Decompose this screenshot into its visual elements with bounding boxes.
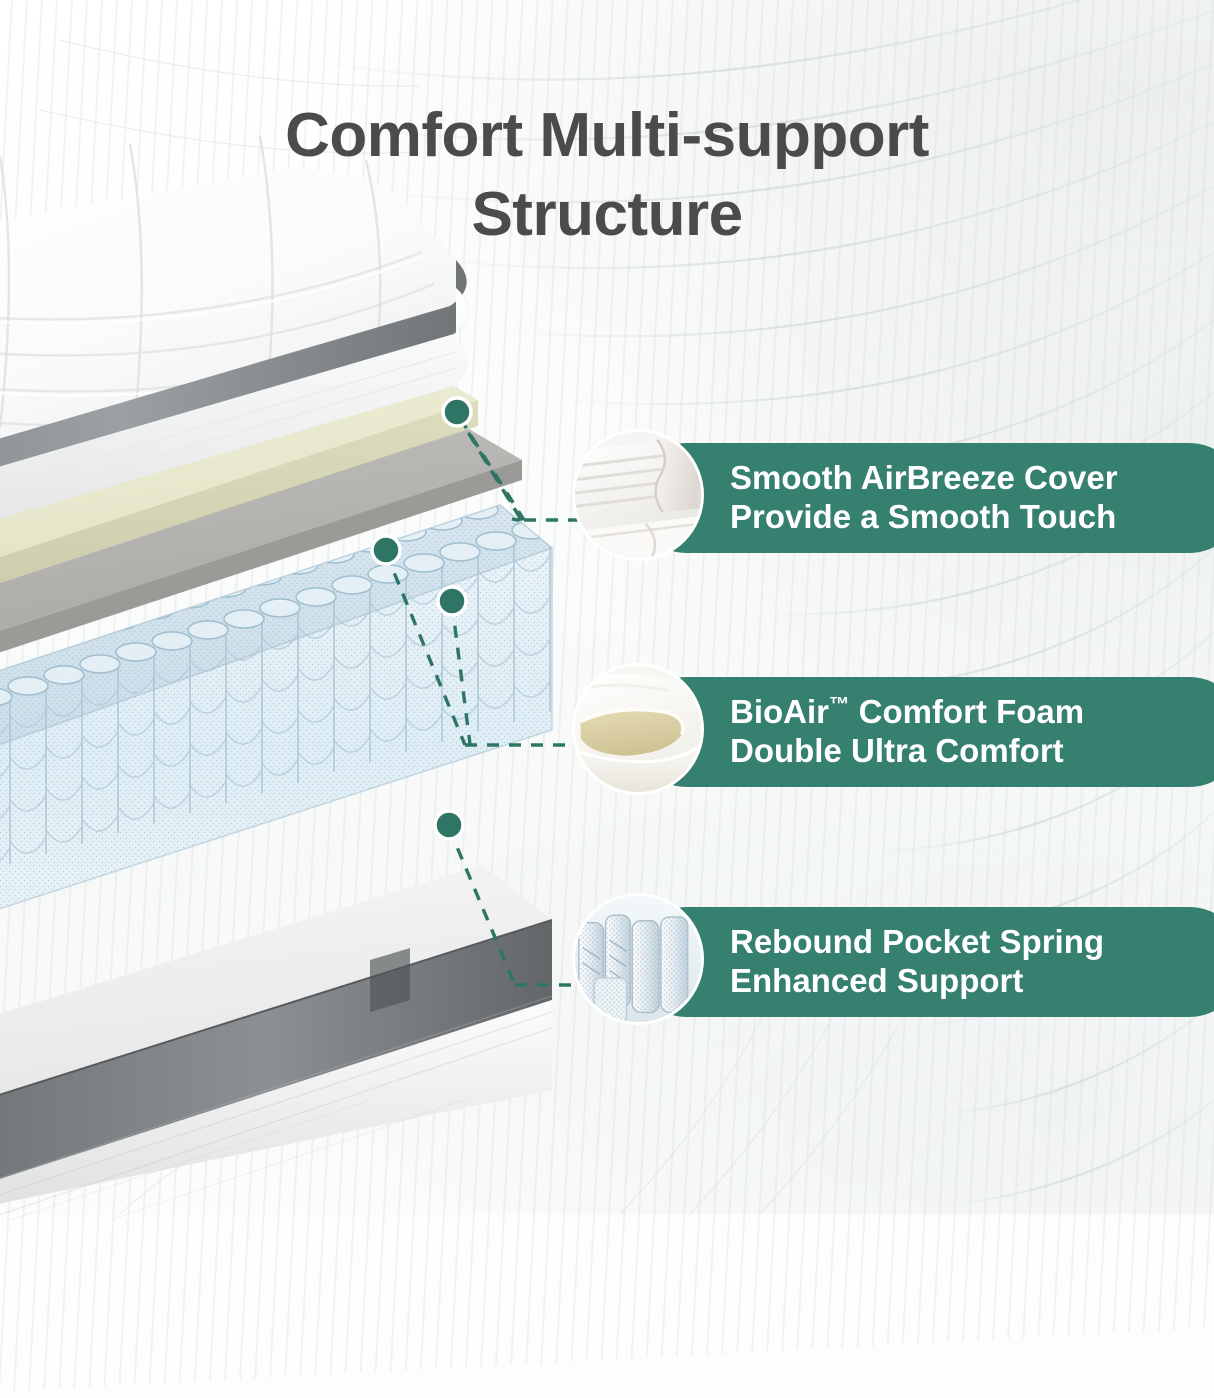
exploded-mattress-illustration [0,300,600,1220]
callout-2-line2: Double Ultra Comfort [730,732,1084,771]
callout-text-2: BioAir™ Comfort Foam Double Ultra Comfor… [730,693,1124,770]
callout-2-line1: BioAir™ Comfort Foam [730,693,1084,732]
page-title-line1: Comfort Multi-support [285,101,929,170]
callout-1-line2: Provide a Smooth Touch [730,498,1118,537]
trademark-icon: ™ [829,693,849,716]
page-title-line2: Structure [120,175,1094,254]
callout-text-1: Smooth AirBreeze Cover Provide a Smooth … [730,459,1158,536]
callout-1-line1: Smooth AirBreeze Cover [730,459,1118,498]
callout-bioair-comfort-foam[interactable]: BioAir™ Comfort Foam Double Ultra Comfor… [572,672,1124,792]
callout-3-line2: Enhanced Support [730,962,1104,1001]
callout-rebound-pocket-spring[interactable]: Rebound Pocket Spring Enhanced Support [572,902,1144,1022]
callout-smooth-airbreeze-cover[interactable]: Smooth AirBreeze Cover Provide a Smooth … [572,438,1158,558]
comfort-foam-closeup-photo [572,663,704,795]
page-title: Comfort Multi-support Structure [0,96,1214,255]
pocket-spring-closeup-photo [572,893,704,1025]
callout-2-line1-rest: Comfort Foam [849,693,1084,730]
callout-2-brand: BioAir [730,693,829,730]
callout-3-line1: Rebound Pocket Spring [730,923,1104,962]
quilted-cover-closeup-photo [572,429,704,561]
mattress-layer-base [0,865,552,1220]
callout-text-3: Rebound Pocket Spring Enhanced Support [730,923,1144,1000]
